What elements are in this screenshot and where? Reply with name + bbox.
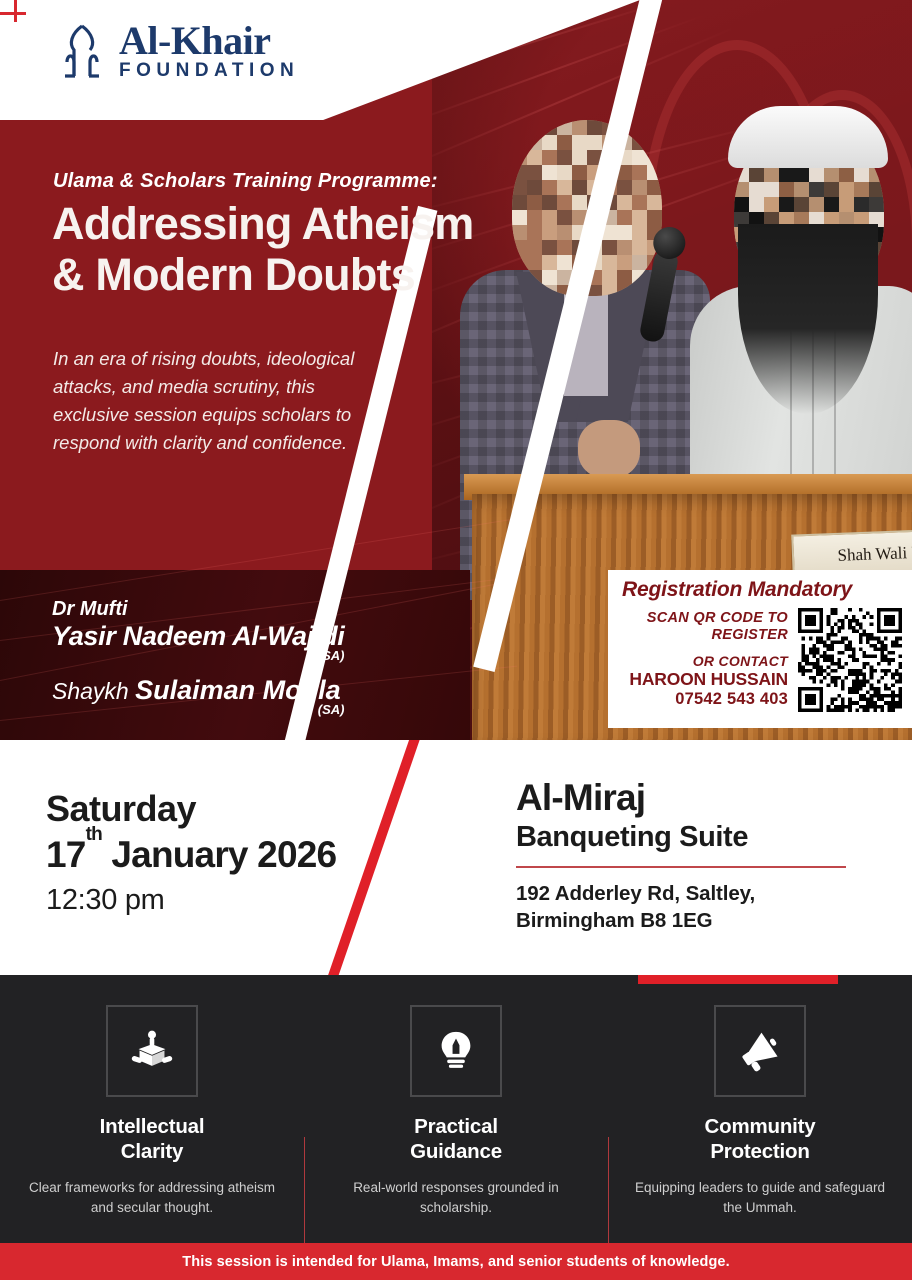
mosque-arch-icon: [55, 22, 109, 82]
event-date-block: Saturday 17th January 2026 12:30 pm: [46, 788, 336, 917]
title-line-2: & Modern Doubts: [52, 249, 474, 300]
hero-description: In an era of rising doubts, ideological …: [53, 345, 373, 457]
event-venue-block: Al-Miraj Banqueting Suite 192 Adderley R…: [516, 778, 846, 935]
brand-wordmark: Al-Khair FOUNDATION: [119, 22, 299, 82]
speaker-one-prefix: Dr Mufti: [52, 598, 345, 621]
prayer-cap: [728, 106, 888, 168]
event-poster: Shah Wali Ullah Audi Ulama & Scholars Tr…: [0, 0, 912, 1280]
brand-name: Al-Khair: [119, 22, 299, 60]
venue-subname: Banqueting Suite: [516, 821, 846, 854]
speakers-list: Dr Mufti Yasir Nadeem Al-Wajidi (USA) Sh…: [52, 598, 345, 717]
feature-text: Equipping leaders to guide and safeguard…: [630, 1178, 890, 1217]
feature-title: PracticalGuidance: [326, 1115, 586, 1164]
lightbulb-pencil-icon: [410, 1005, 502, 1097]
event-date: 17th January 2026: [46, 834, 336, 876]
contact-name: HAROON HUSSAIN: [622, 669, 788, 690]
registration-card: Registration Mandatory SCAN QR CODE TO R…: [608, 570, 912, 728]
speaker-item: Shaykh Sulaiman Moola (SA): [52, 675, 345, 717]
qr-code-icon[interactable]: [798, 608, 902, 712]
event-time: 12:30 pm: [46, 884, 336, 917]
red-accent-bar: [638, 975, 838, 984]
feature-card-intellectual-clarity: IntellectualClarity Clear frameworks for…: [0, 1005, 304, 1243]
or-contact-label: OR CONTACT: [622, 653, 788, 669]
page-title: Addressing Atheism & Modern Doubts: [52, 198, 474, 301]
speaker-item: Dr Mufti Yasir Nadeem Al-Wajidi (USA): [52, 598, 345, 663]
features-section: IntellectualClarity Clear frameworks for…: [0, 975, 912, 1243]
feature-card-community-protection: CommunityProtection Equipping leaders to…: [608, 1005, 912, 1243]
brand-logo: Al-Khair FOUNDATION: [55, 22, 299, 82]
hero-section: Shah Wali Ullah Audi Ulama & Scholars Tr…: [0, 0, 912, 740]
crop-mark: [14, 0, 17, 22]
feature-text: Clear frameworks for addressing atheism …: [22, 1178, 282, 1217]
brand-subname: FOUNDATION: [119, 60, 299, 82]
divider: [516, 866, 846, 868]
podium-plaque-text: Shah Wali Ullah Audi: [837, 540, 912, 566]
speaker-two-name: Sulaiman Moola: [135, 675, 341, 705]
venue-name: Al-Miraj: [516, 778, 846, 819]
crop-mark: [0, 12, 26, 15]
scan-instruction: SCAN QR CODE TO REGISTER: [622, 610, 788, 644]
programme-kicker: Ulama & Scholars Training Programme:: [53, 170, 438, 193]
feature-title: IntellectualClarity: [22, 1115, 282, 1164]
feature-card-practical-guidance: PracticalGuidance Real-world responses g…: [304, 1005, 608, 1243]
venue-address: 192 Adderley Rd, Saltley, Birmingham B8 …: [516, 880, 846, 935]
feature-title: CommunityProtection: [630, 1115, 890, 1164]
event-details-section: Saturday 17th January 2026 12:30 pm Al-M…: [0, 740, 912, 975]
footer-note: This session is intended for Ulama, Imam…: [182, 1254, 729, 1270]
person-at-lectern-icon: [106, 1005, 198, 1097]
speaker-two-prefix: Shaykh: [52, 678, 129, 704]
speaker-one-name: Yasir Nadeem Al-Wajidi: [52, 621, 345, 652]
contact-phone: 07542 543 403: [622, 690, 788, 709]
megaphone-icon: [714, 1005, 806, 1097]
address-line-1: 192 Adderley Rd, Saltley,: [516, 880, 846, 908]
footer-note-band: This session is intended for Ulama, Imam…: [0, 1243, 912, 1280]
title-line-1: Addressing Atheism: [52, 198, 474, 249]
address-line-2: Birmingham B8 1EG: [516, 907, 846, 935]
feature-text: Real-world responses grounded in scholar…: [326, 1178, 586, 1217]
registration-title: Registration Mandatory: [622, 578, 902, 602]
